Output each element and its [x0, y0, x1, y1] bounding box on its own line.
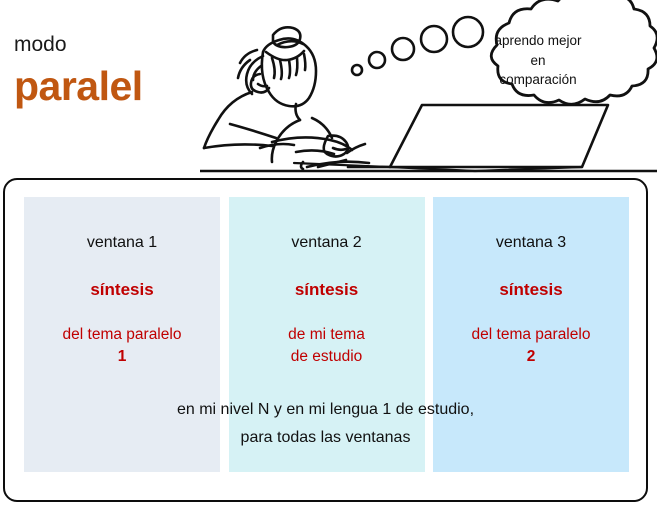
window-panel-2-heading: síntesis	[229, 281, 425, 298]
window-panel-1-heading: síntesis	[24, 281, 220, 298]
window-panel-3-desc-line-2: 2	[433, 346, 629, 368]
window-panel-1-desc-line-1: del tema paralelo	[24, 324, 220, 346]
windows-container: ventana 1 síntesis del tema paralelo 1 v…	[3, 178, 648, 502]
window-panel-3-description: del tema paralelo 2	[433, 324, 629, 369]
thought-dot-3	[392, 38, 414, 60]
window-panel-2[interactable]: ventana 2 síntesis de mi tema de estudio	[229, 197, 425, 472]
page-title-modo: modo	[14, 34, 67, 55]
thought-dot-4	[421, 26, 447, 52]
window-panel-1-desc-line-2: 1	[24, 346, 220, 368]
window-panel-3-desc-line-1: del tema paralelo	[433, 324, 629, 346]
window-panel-1[interactable]: ventana 1 síntesis del tema paralelo 1	[24, 197, 220, 472]
panels-row: ventana 1 síntesis del tema paralelo 1 v…	[24, 197, 629, 472]
header: modo paralel	[0, 0, 657, 176]
window-panel-1-description: del tema paralelo 1	[24, 324, 220, 369]
laptop-screen-icon	[390, 105, 608, 167]
thought-bubble-text: aprendo mejor en comparación	[462, 31, 614, 90]
window-panel-1-label: ventana 1	[24, 235, 220, 251]
window-panel-3[interactable]: ventana 3 síntesis del tema paralelo 2	[433, 197, 629, 472]
thought-dot-2	[369, 52, 385, 68]
thought-dot-1	[352, 65, 362, 75]
thought-bubble-line-2: en	[462, 51, 614, 71]
thought-bubble-line-3: comparación	[462, 70, 614, 90]
page-title-paralel: paralel	[14, 66, 143, 107]
thought-bubble-line-1: aprendo mejor	[462, 31, 614, 51]
window-panel-2-label: ventana 2	[229, 235, 425, 251]
window-panel-2-desc-line-1: de mi tema	[229, 324, 425, 346]
window-panel-2-desc-line-2: de estudio	[229, 346, 425, 368]
window-panel-3-label: ventana 3	[433, 235, 629, 251]
window-panel-2-description: de mi tema de estudio	[229, 324, 425, 369]
window-panel-3-heading: síntesis	[433, 281, 629, 298]
